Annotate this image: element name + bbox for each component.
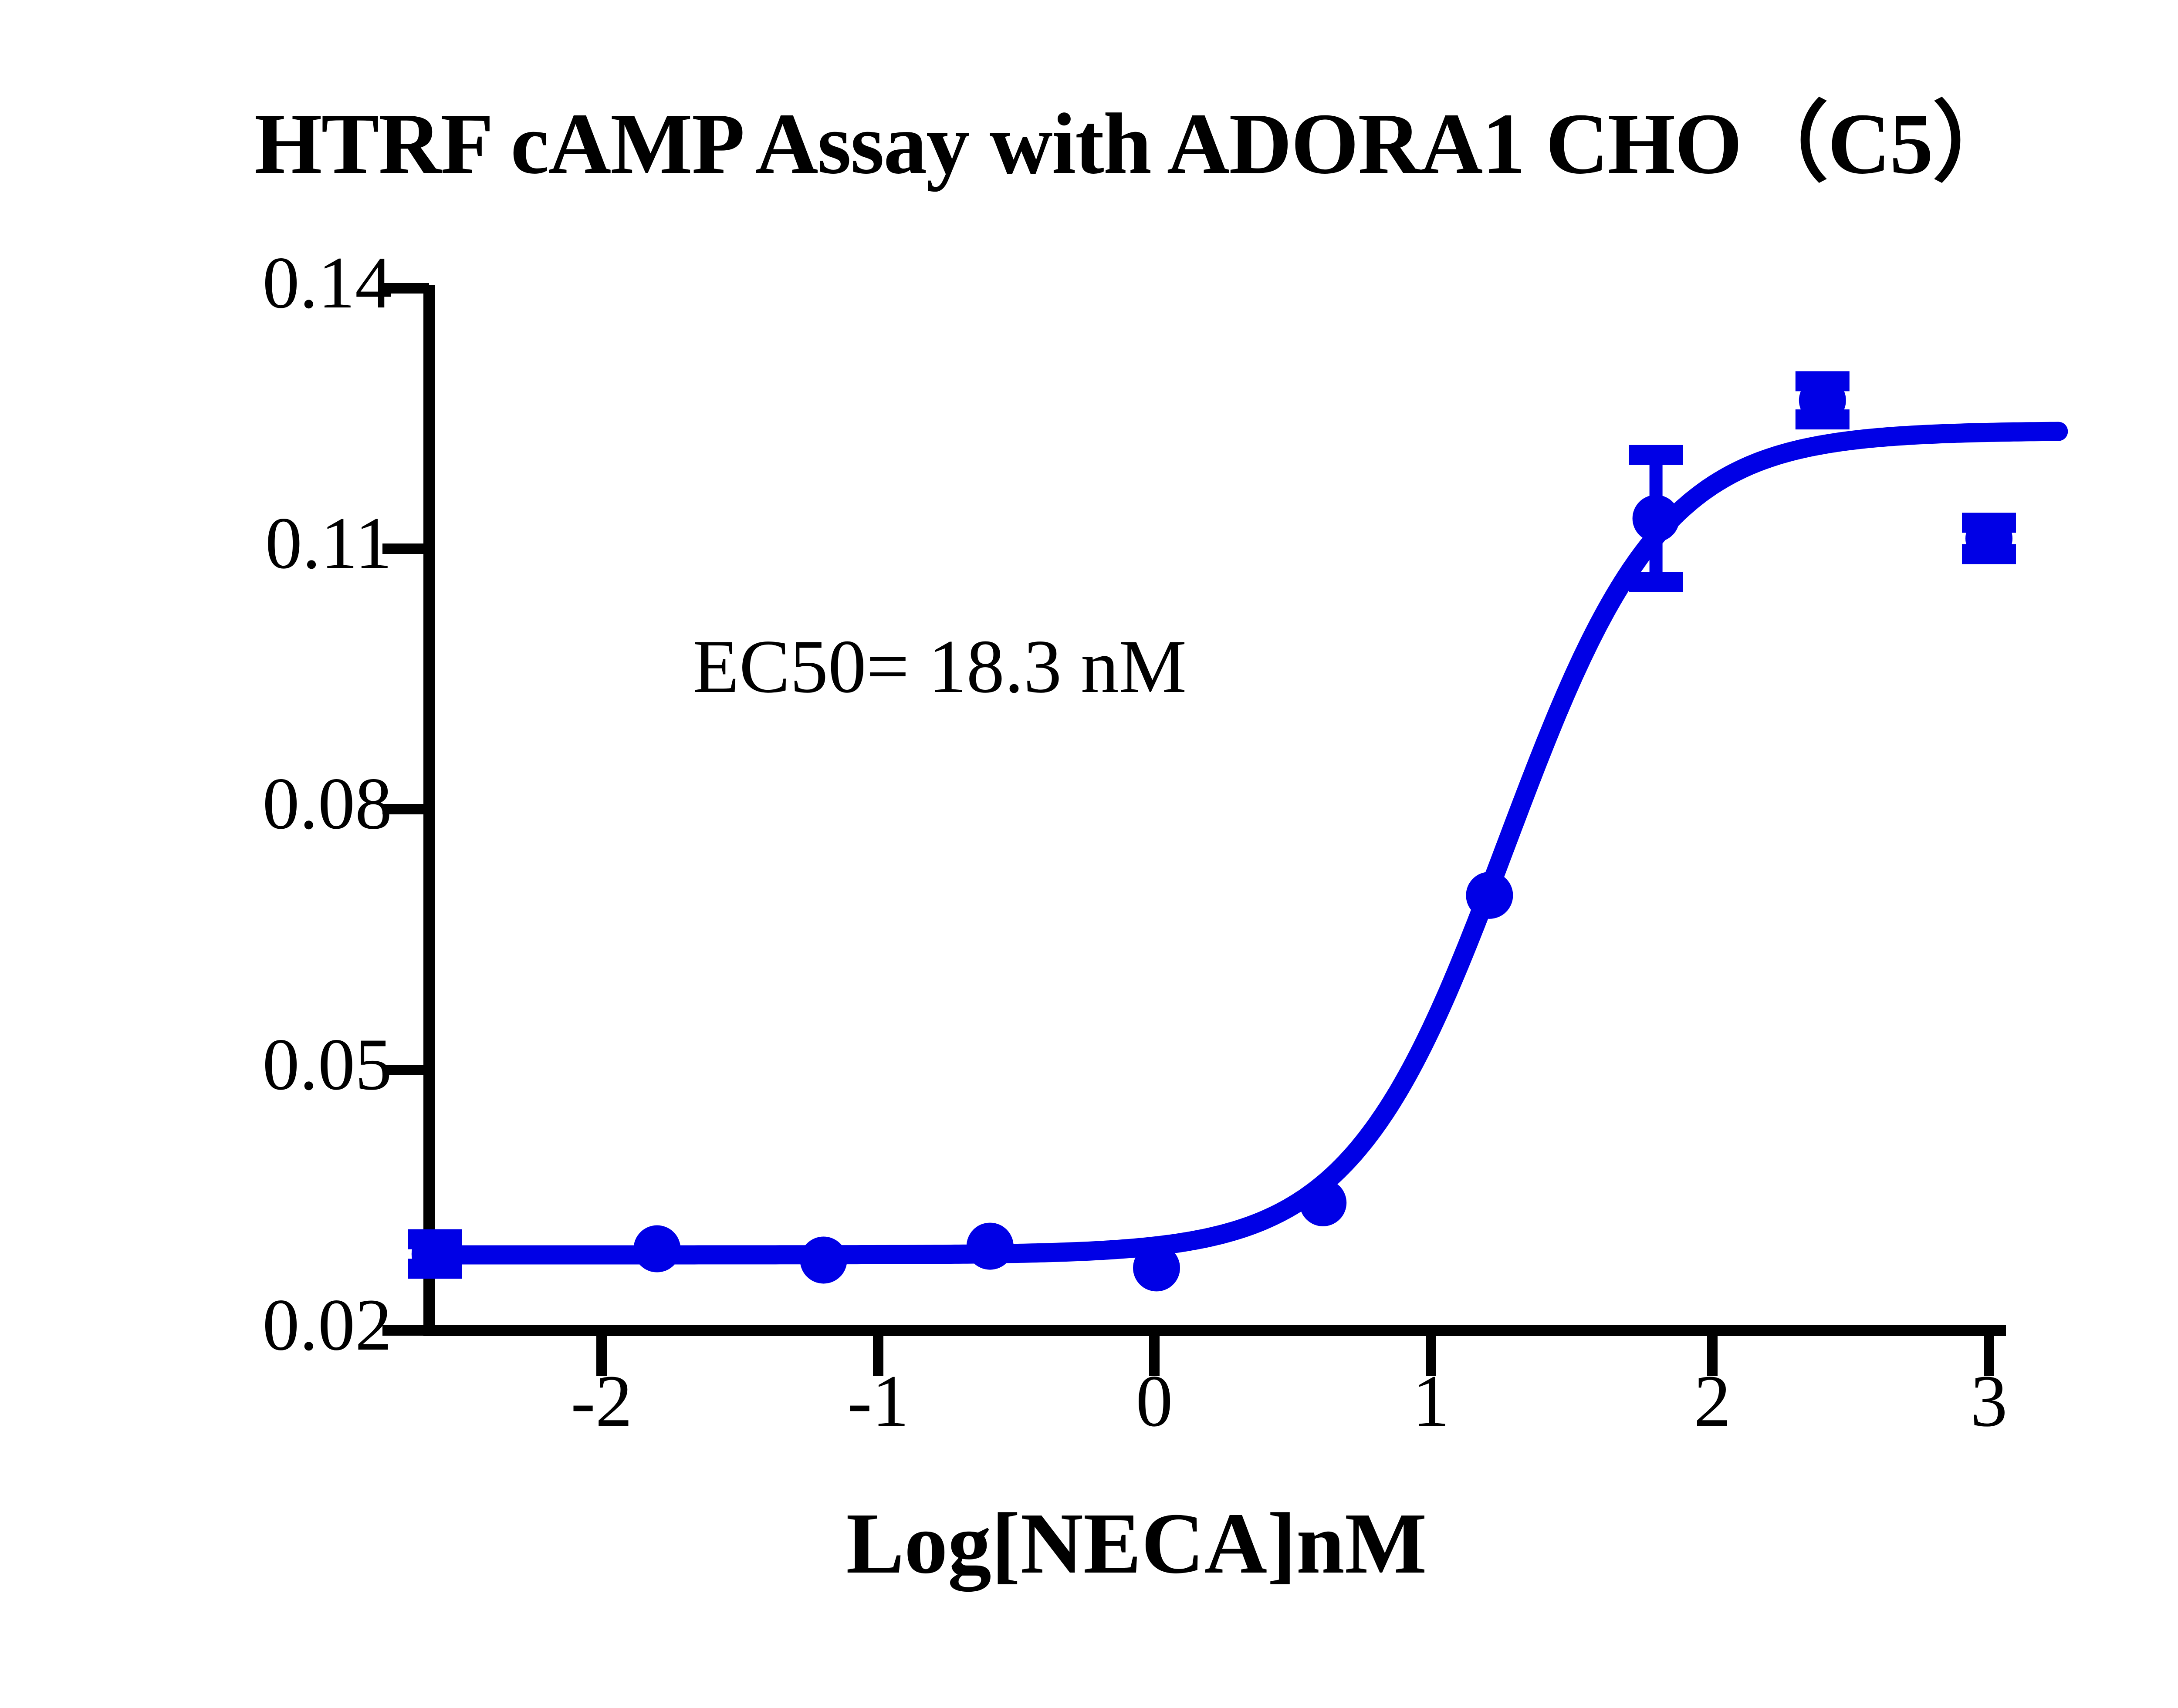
data-point [633,1225,680,1273]
data-point [1799,377,1846,424]
axes-group [382,285,2006,1376]
data-point [1466,872,1513,919]
data-point [1299,1179,1346,1226]
data-point [1965,515,2012,562]
data-point [1133,1244,1180,1291]
chart-figure: HTRF cAMP Assay with ADORA1 CHO（C5） HTRF… [0,0,2178,1708]
x-ticks [602,1330,1989,1376]
data-point [1633,495,1680,542]
data-point [800,1236,847,1283]
data-point [967,1223,1014,1270]
y-ticks [382,288,429,1330]
data-series-layer [408,377,2058,1291]
plot-canvas [0,0,2178,1708]
data-point [412,1231,459,1278]
fit-curve [430,432,2058,1255]
